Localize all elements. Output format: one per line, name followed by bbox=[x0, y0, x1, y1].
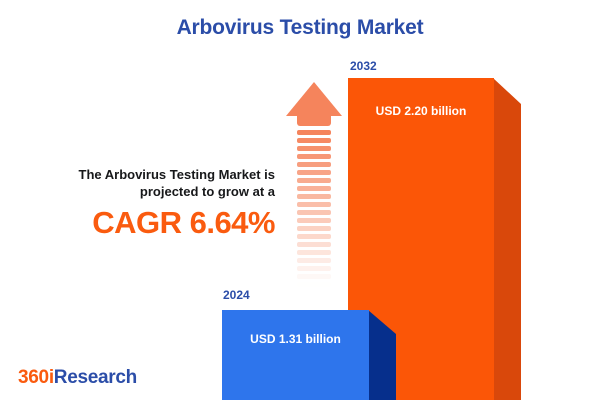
bar-2024-value-label: USD 1.31 billion bbox=[222, 332, 369, 346]
bar-2024-side-face bbox=[368, 310, 396, 400]
bar-label-year-2032: 2032 bbox=[350, 59, 377, 73]
infographic-canvas: Arbovirus Testing Market 2032 USD 2.20 b… bbox=[0, 0, 600, 400]
bar-label-year-2024: 2024 bbox=[223, 288, 250, 302]
bar-2024: USD 1.31 billion bbox=[222, 310, 396, 400]
bar-2032-side-face bbox=[493, 78, 521, 400]
brand-logo: 360iResearch bbox=[18, 367, 137, 389]
logo-text-research: Research bbox=[54, 367, 137, 388]
cagr-lead-line-1: The Arbovirus Testing Market is bbox=[20, 166, 275, 183]
logo-text-360: 360 bbox=[18, 367, 49, 388]
cagr-callout: The Arbovirus Testing Market is projecte… bbox=[20, 166, 275, 240]
cagr-lead-line-2: projected to grow at a bbox=[20, 183, 275, 200]
cagr-value: CAGR 6.64% bbox=[20, 206, 275, 240]
bar-2032-value-label: USD 2.20 billion bbox=[348, 104, 494, 118]
bar-2024-front-face: USD 1.31 billion bbox=[222, 310, 369, 400]
